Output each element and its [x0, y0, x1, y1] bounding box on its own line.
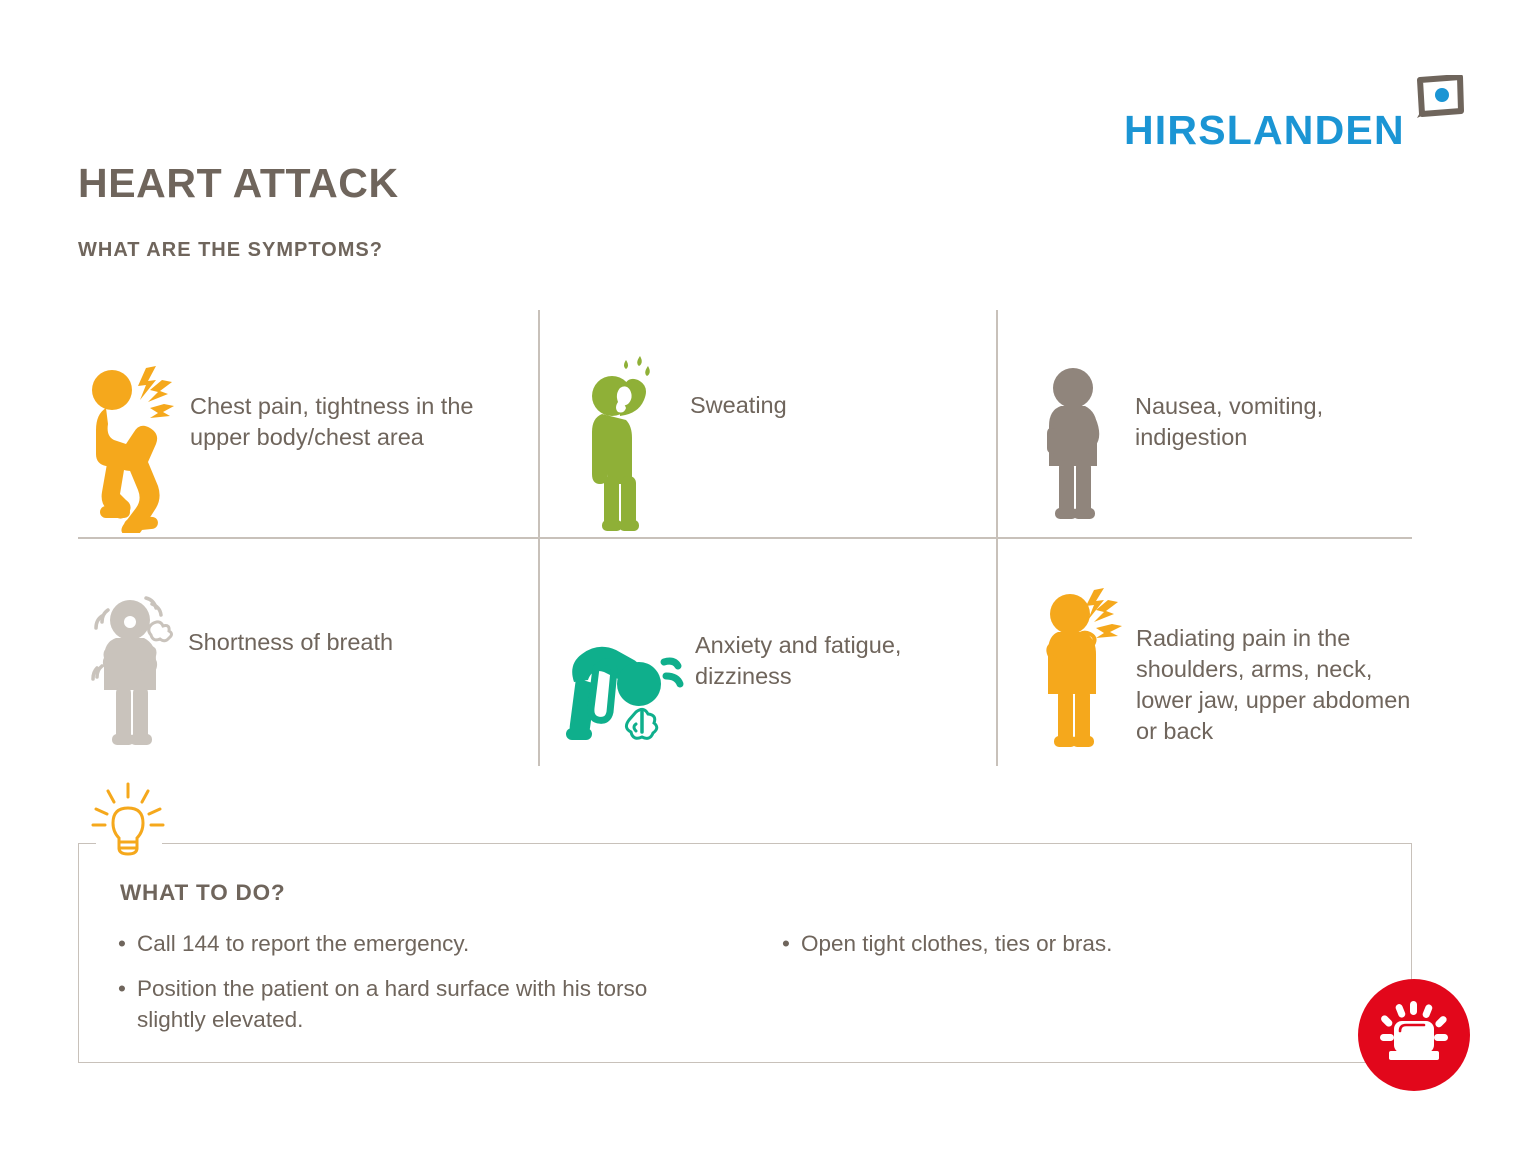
- symptom-label: Sweating: [690, 390, 980, 421]
- person-sweating-icon: [580, 352, 690, 527]
- person-dizziness-icon: [560, 620, 690, 760]
- person-radiating-pain-icon: [1038, 588, 1148, 763]
- infographic-page: HIRSLANDEN HEART ATTACK WHAT ARE THE SYM…: [0, 0, 1536, 1152]
- page-title: HEART ATTACK: [78, 160, 399, 207]
- symptom-label: Chest pain, tightness in the upper body/…: [190, 391, 510, 453]
- list-item: • Open tight clothes, ties or bras.: [782, 928, 1282, 959]
- person-nausea-icon: [1035, 358, 1145, 533]
- symptom-label: Radiating pain in the shoulders, arms, n…: [1136, 623, 1426, 747]
- list-item-text: Open tight clothes, ties or bras.: [801, 931, 1112, 956]
- page-subtitle: WHAT ARE THE SYMPTOMS?: [78, 239, 383, 262]
- bullet-glyph: •: [118, 928, 126, 959]
- hirslanden-square-mark-icon: [1416, 75, 1464, 119]
- person-chest-pain-icon: [80, 358, 190, 533]
- brand-wordmark: HIRSLANDEN: [1124, 107, 1405, 154]
- what-to-do-right-column: • Open tight clothes, ties or bras.: [782, 928, 1282, 973]
- person-shortness-of-breath-icon: [90, 592, 200, 767]
- what-to-do-title: WHAT TO DO?: [120, 880, 285, 906]
- list-item-text: Call 144 to report the emergency.: [137, 931, 469, 956]
- symptom-label: Anxiety and fatigue, dizziness: [695, 630, 975, 692]
- what-to-do-left-column: • Call 144 to report the emergency. • Po…: [118, 928, 658, 1049]
- emergency-beacon-icon: [1358, 979, 1470, 1091]
- grid-divider-horizontal: [78, 537, 1412, 539]
- symptom-label: Shortness of breath: [188, 627, 488, 658]
- symptom-label: Nausea, vomiting, indigestion: [1135, 391, 1435, 453]
- bullet-glyph: •: [118, 973, 126, 1004]
- list-item: • Position the patient on a hard surface…: [118, 973, 658, 1035]
- list-item: • Call 144 to report the emergency.: [118, 928, 658, 959]
- lightbulb-icon: [88, 778, 168, 868]
- brand-logo: HIRSLANDEN: [1124, 75, 1464, 155]
- list-item-text: Position the patient on a hard surface w…: [137, 976, 647, 1032]
- emergency-beacon-badge: [1358, 979, 1470, 1091]
- bullet-glyph: •: [782, 928, 790, 959]
